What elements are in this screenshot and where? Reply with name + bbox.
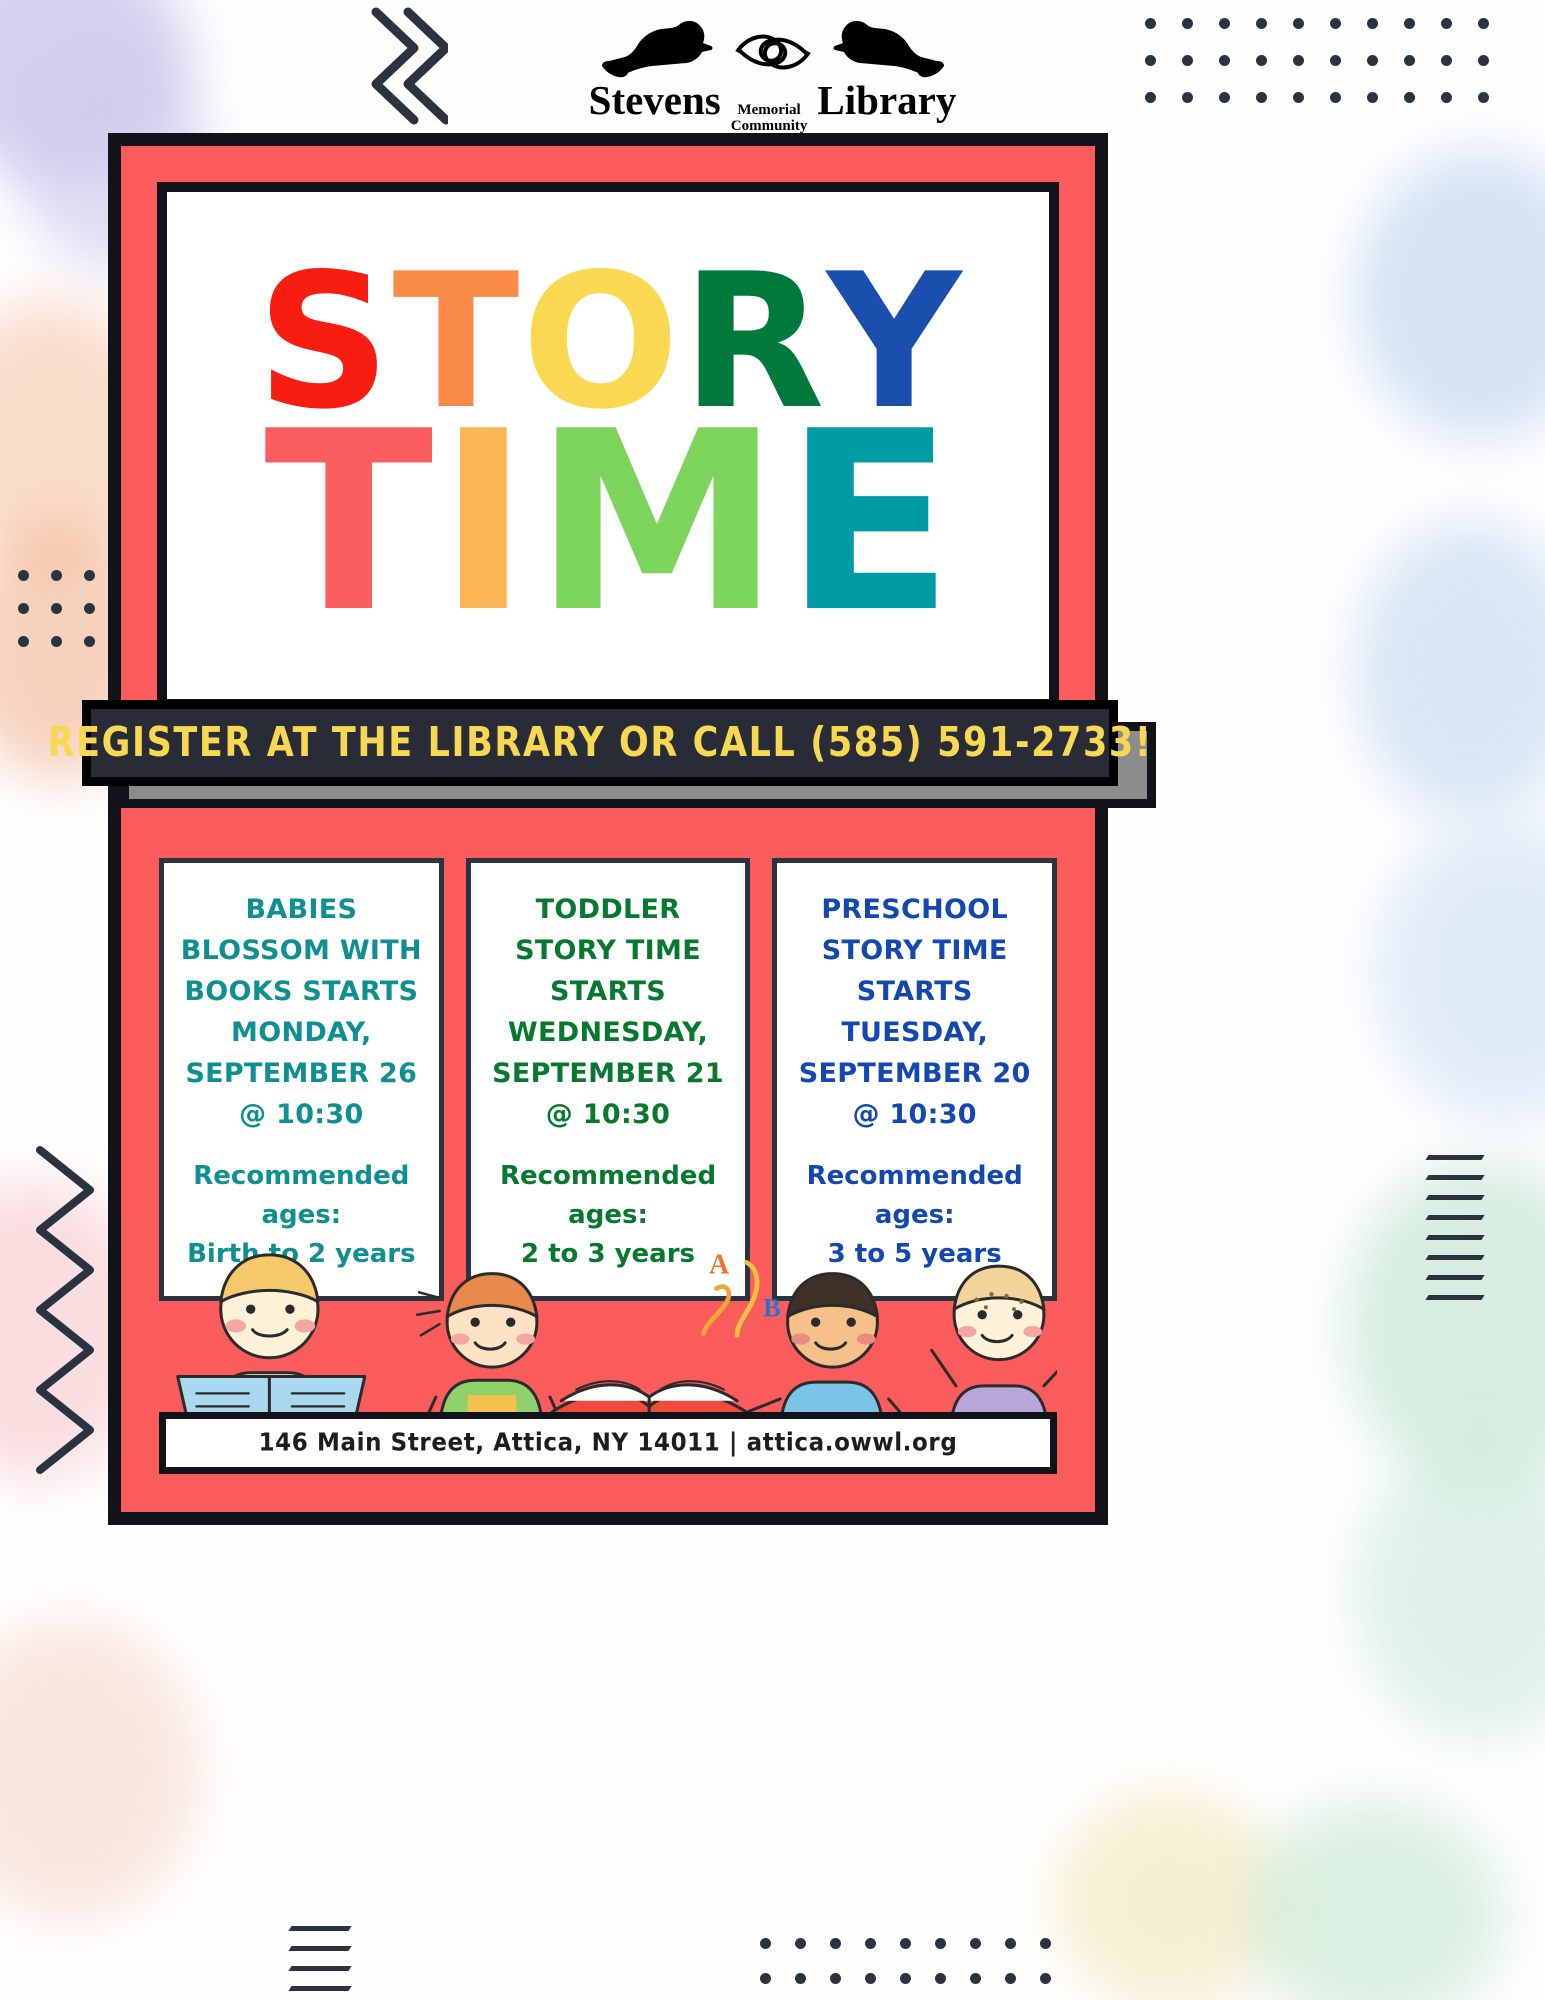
title-letter-i-1: I (437, 422, 527, 625)
ornamental-flourish-icon (727, 26, 819, 78)
title-letter-e-3: E (784, 422, 951, 625)
slash-marks-bottom (290, 1926, 350, 2000)
logo-word-memorial-community: Memorial Community (731, 103, 808, 135)
poster-frame: STORY TIME BABIES BLOSSOM WITH BOOKS STA… (108, 133, 1108, 1525)
footer-address-text: 146 Main Street, Attica, NY 14011 | atti… (259, 1429, 958, 1458)
slash-marks-right (1427, 1155, 1483, 1315)
lion-silhouette-icon (602, 18, 717, 84)
logo-word-library: Library (817, 80, 956, 121)
bg-blob-blue-right3 (1375, 820, 1545, 1120)
zigzag-left-middle (30, 1140, 110, 1500)
register-banner-text: REGISTER AT THE LIBRARY OR CALL (585) 59… (48, 719, 1153, 766)
register-banner: REGISTER AT THE LIBRARY OR CALL (585) 59… (82, 700, 1142, 786)
title-letter-t-0: T (264, 422, 431, 625)
letter-b: B (763, 1294, 780, 1323)
bg-blob-green-right2 (1355, 1440, 1545, 1740)
bg-blob-blue-right2 (1355, 520, 1545, 820)
logo-word-memorial: Memorial (737, 102, 800, 118)
logo-word-stevens: Stevens (589, 80, 721, 121)
card-title: BABIES BLOSSOM WITH BOOKS STARTS MONDAY,… (174, 889, 429, 1135)
library-logo: Stevens Memorial Community Library (0, 18, 1545, 135)
title-letter-m-2: M (534, 422, 779, 625)
title-word-time: TIME (264, 422, 952, 625)
dot-grid-bottom (760, 1938, 1051, 1984)
story-time-title-box: STORY TIME (157, 182, 1059, 709)
card-title: TODDLER STORY TIME STARTS WEDNESDAY, SEP… (481, 889, 736, 1135)
bg-blob-green-bottom (1245, 1800, 1505, 2000)
letter-a: A (709, 1250, 730, 1281)
footer-address-bar: 146 Main Street, Attica, NY 14011 | atti… (159, 1412, 1057, 1474)
register-banner-bar: REGISTER AT THE LIBRARY OR CALL (585) 59… (82, 700, 1118, 786)
logo-word-community: Community (731, 118, 808, 134)
bg-blob-blue-right (1355, 150, 1545, 440)
bg-blob-peach-bottom (0, 1620, 200, 1920)
card-title: PRESCHOOL STORY TIME STARTS TUESDAY, SEP… (787, 889, 1042, 1135)
lion-silhouette-icon (829, 18, 944, 84)
